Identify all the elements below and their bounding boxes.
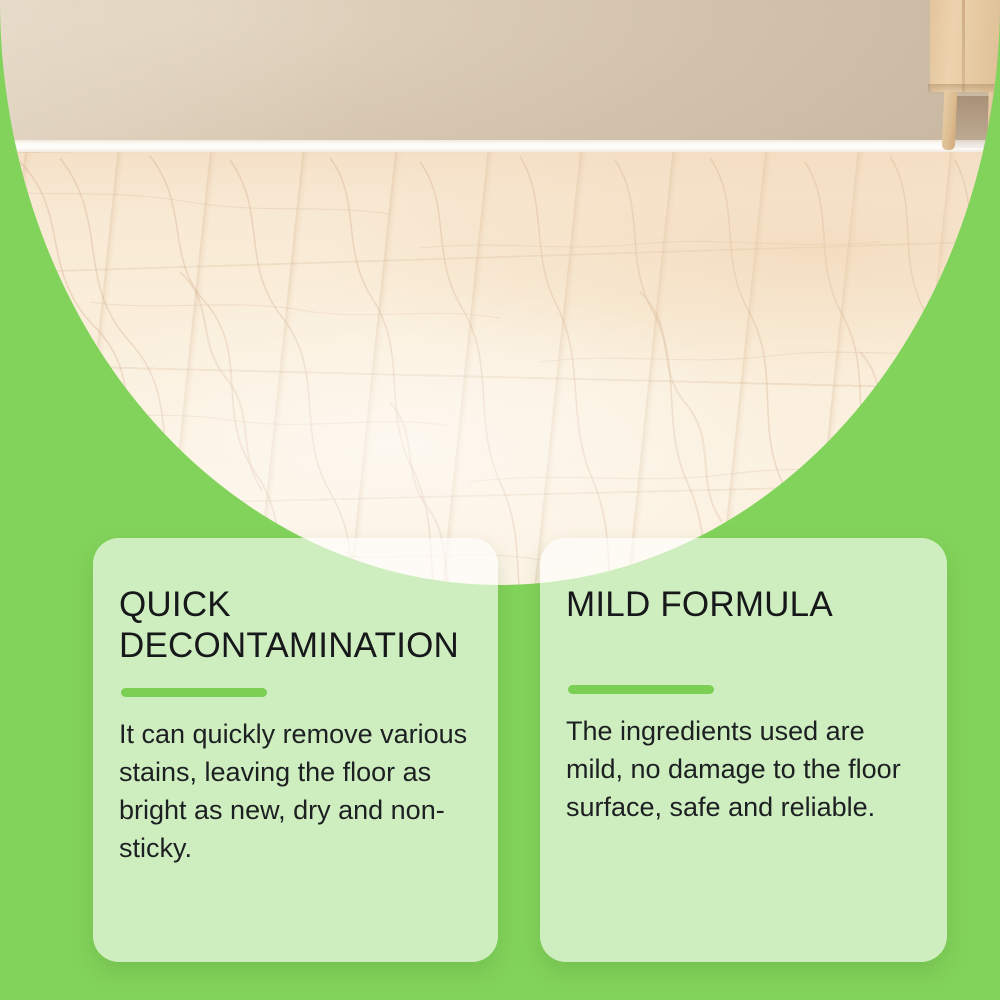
feature-description: It can quickly remove various stains, le… bbox=[119, 715, 472, 867]
wooden-cabinet bbox=[930, 0, 1000, 92]
accent-divider bbox=[568, 685, 714, 694]
cabinet-door-seam bbox=[962, 0, 965, 92]
accent-divider bbox=[121, 688, 267, 697]
feature-card-mild-formula[interactable]: MILD FORMULA The ingredients used are mi… bbox=[540, 538, 947, 962]
cabinet-leg-left bbox=[942, 92, 958, 151]
feature-title: MILD FORMULA bbox=[566, 584, 921, 625]
cabinet-underside-shadow bbox=[955, 96, 989, 148]
feature-card-quick-decontamination[interactable]: QUICK DECONTAMINATION It can quickly rem… bbox=[93, 538, 498, 962]
feature-title: QUICK DECONTAMINATION bbox=[119, 584, 472, 666]
wall-shading bbox=[0, 0, 1000, 146]
feature-description: The ingredients used are mild, no damage… bbox=[566, 712, 921, 826]
product-feature-banner: QUICK DECONTAMINATION It can quickly rem… bbox=[0, 0, 1000, 1000]
